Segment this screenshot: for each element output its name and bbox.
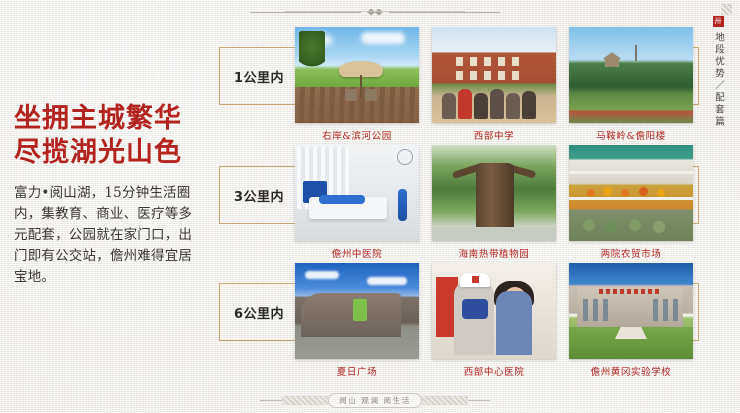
- photo-row-1km: 右岸&滨河公园 西部中学 马鞍岭&儋阳楼: [295, 27, 693, 145]
- photo-thumbnail[interactable]: [569, 263, 693, 359]
- photo-row-3km: 儋州中医院 海南热带植物园 两院农贸市场: [295, 145, 693, 263]
- photo-caption: 西部中学: [432, 128, 556, 142]
- headline-line-2: 尽揽湖光山色: [14, 136, 214, 170]
- photo-caption: 儋州中医院: [295, 246, 419, 260]
- photo-row-6km: 夏日广场 西部中心医院 儋州黄冈实验学校: [295, 263, 693, 381]
- photo-cell: 两院农贸市场: [569, 145, 693, 260]
- photo-caption: 右岸&滨河公园: [295, 128, 419, 142]
- distance-label-3km: 3公里内: [219, 166, 299, 224]
- photo-thumbnail[interactable]: [432, 263, 556, 359]
- photo-cell: 儋州黄冈实验学校: [569, 263, 693, 378]
- photo-thumbnail[interactable]: [295, 145, 419, 241]
- distance-label-text: 1公里内: [234, 67, 284, 86]
- top-ornament-sub-rule: [285, 11, 465, 12]
- photo-thumbnail[interactable]: [569, 27, 693, 123]
- section-badge: 卅: [713, 16, 724, 27]
- slogan-capsule: 阅山 观澜 阅生活: [328, 393, 422, 408]
- photo-cell: 海南热带植物园: [432, 145, 556, 260]
- section-title-vertical: 卅 地段优势／配套篇: [701, 16, 735, 128]
- headline-paragraph: 富力•阅山湖，15分钟生活圈内，集教育、商业、医疗等多元配套，公园就在家门口，出…: [14, 183, 204, 288]
- section-title-text: 地段优势／配套篇: [711, 32, 725, 128]
- distance-label-text: 3公里内: [234, 186, 284, 205]
- slogan-text: 阅山 观澜 阅生活: [339, 395, 411, 406]
- photo-cell: 西部中学: [432, 27, 556, 142]
- photo-cell: 西部中心医院: [432, 263, 556, 378]
- photo-cell: 马鞍岭&儋阳楼: [569, 27, 693, 142]
- bottom-ornament: 阅山 观澜 阅生活: [250, 390, 500, 410]
- diamond-ornament-icon: [367, 9, 383, 16]
- photo-caption: 马鞍岭&儋阳楼: [569, 128, 693, 142]
- photo-thumbnail[interactable]: [569, 145, 693, 241]
- photo-cell: 夏日广场: [295, 263, 419, 378]
- photo-thumbnail[interactable]: [295, 27, 419, 123]
- photo-caption: 海南热带植物园: [432, 246, 556, 260]
- photo-thumbnail[interactable]: [432, 145, 556, 241]
- photo-cell: 右岸&滨河公园: [295, 27, 419, 142]
- photo-thumbnail[interactable]: [295, 263, 419, 359]
- top-ornament: [250, 2, 500, 22]
- corner-mark: [721, 4, 732, 15]
- photo-caption: 儋州黄冈实验学校: [569, 364, 693, 378]
- distance-label-text: 6公里内: [234, 303, 284, 322]
- headline-block: 坐拥主城繁华 尽揽湖光山色 富力•阅山湖，15分钟生活圈内，集教育、商业、医疗等…: [14, 102, 214, 288]
- photo-caption: 夏日广场: [295, 364, 419, 378]
- headline-line-1: 坐拥主城繁华: [14, 102, 214, 136]
- photo-thumbnail[interactable]: [432, 27, 556, 123]
- photo-cell: 儋州中医院: [295, 145, 419, 260]
- distance-label-6km: 6公里内: [219, 283, 299, 341]
- photo-caption: 两院农贸市场: [569, 246, 693, 260]
- photo-caption: 西部中心医院: [432, 364, 556, 378]
- distance-label-1km: 1公里内: [219, 47, 299, 105]
